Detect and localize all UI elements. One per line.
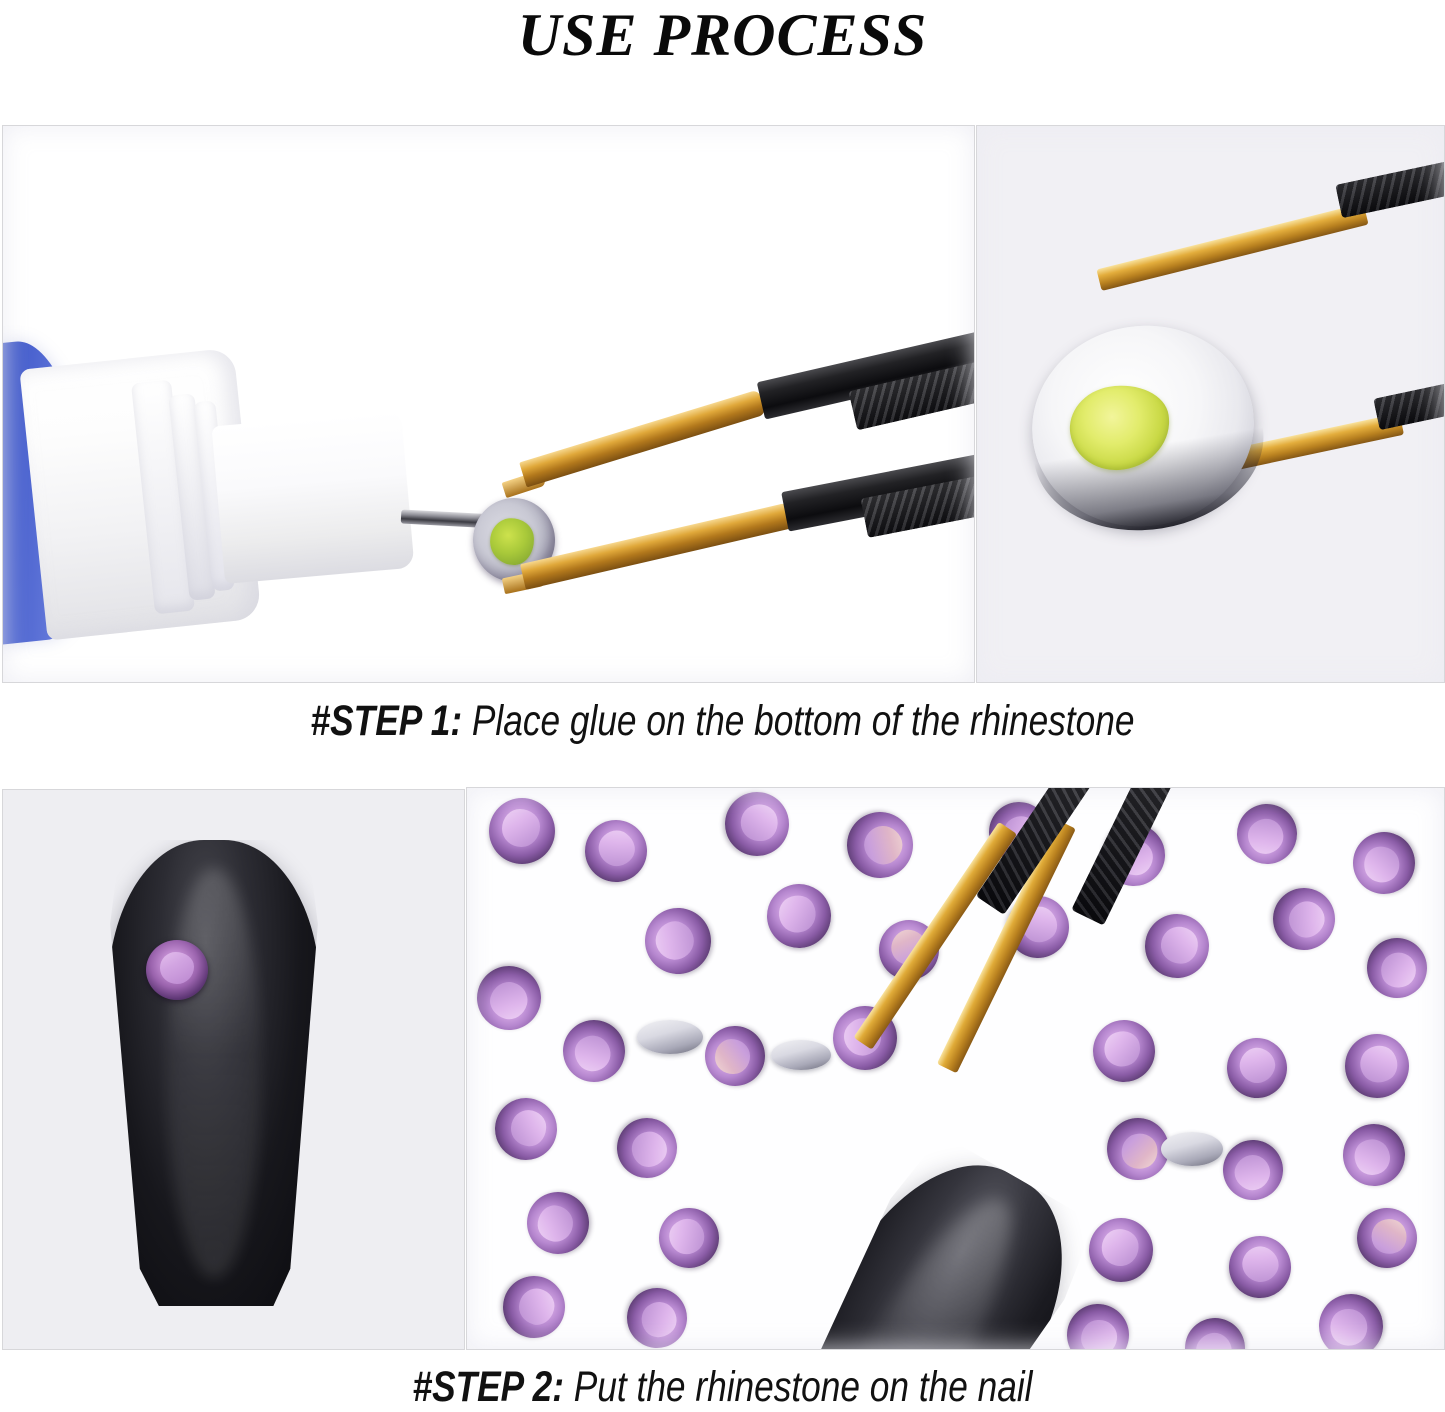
step-1-caption: #STEP 1: Place glue on the bottom of the… xyxy=(130,697,1315,746)
step-2-text: Put the rhinestone on the nail xyxy=(564,1363,1033,1411)
step-2-label: #STEP 2: xyxy=(412,1363,564,1411)
rhinestone xyxy=(489,798,555,864)
rhinestone-flat-back xyxy=(1161,1132,1223,1166)
step-1-label: #STEP 1: xyxy=(311,697,463,745)
page-title: USE PROCESS xyxy=(0,2,1445,68)
green-glue-drop xyxy=(1064,378,1176,477)
purple-rhinestone-on-nail xyxy=(146,940,208,1000)
tweezer-arm-gold-lower xyxy=(520,502,794,589)
step-2-caption: #STEP 2: Put the rhinestone on the nail xyxy=(130,1363,1315,1412)
nail-sheen xyxy=(167,868,260,1278)
step-1-text: Place glue on the bottom of the rhinesto… xyxy=(462,697,1134,745)
rhinestone-flat-back xyxy=(1018,310,1269,542)
rhinestone-flat-back xyxy=(771,1040,831,1070)
glue-application-photo xyxy=(2,125,975,683)
glue-tube-neck xyxy=(211,410,414,584)
tweezer-arm-gold-upper xyxy=(519,389,766,487)
black-nail-tip xyxy=(108,840,320,1306)
placing-rhinestone-photo xyxy=(466,787,1445,1350)
rhinestone-flat-back xyxy=(637,1020,703,1054)
use-process-infographic: USE PROCESS #STEP 1: Place glue on the b xyxy=(0,0,1445,1412)
tweezer-arm-gold-upper xyxy=(1096,203,1368,291)
tweezer-handle-upper xyxy=(1335,152,1445,219)
tweezer-handle-lower xyxy=(1373,370,1445,430)
glue-closeup-photo xyxy=(976,125,1445,683)
